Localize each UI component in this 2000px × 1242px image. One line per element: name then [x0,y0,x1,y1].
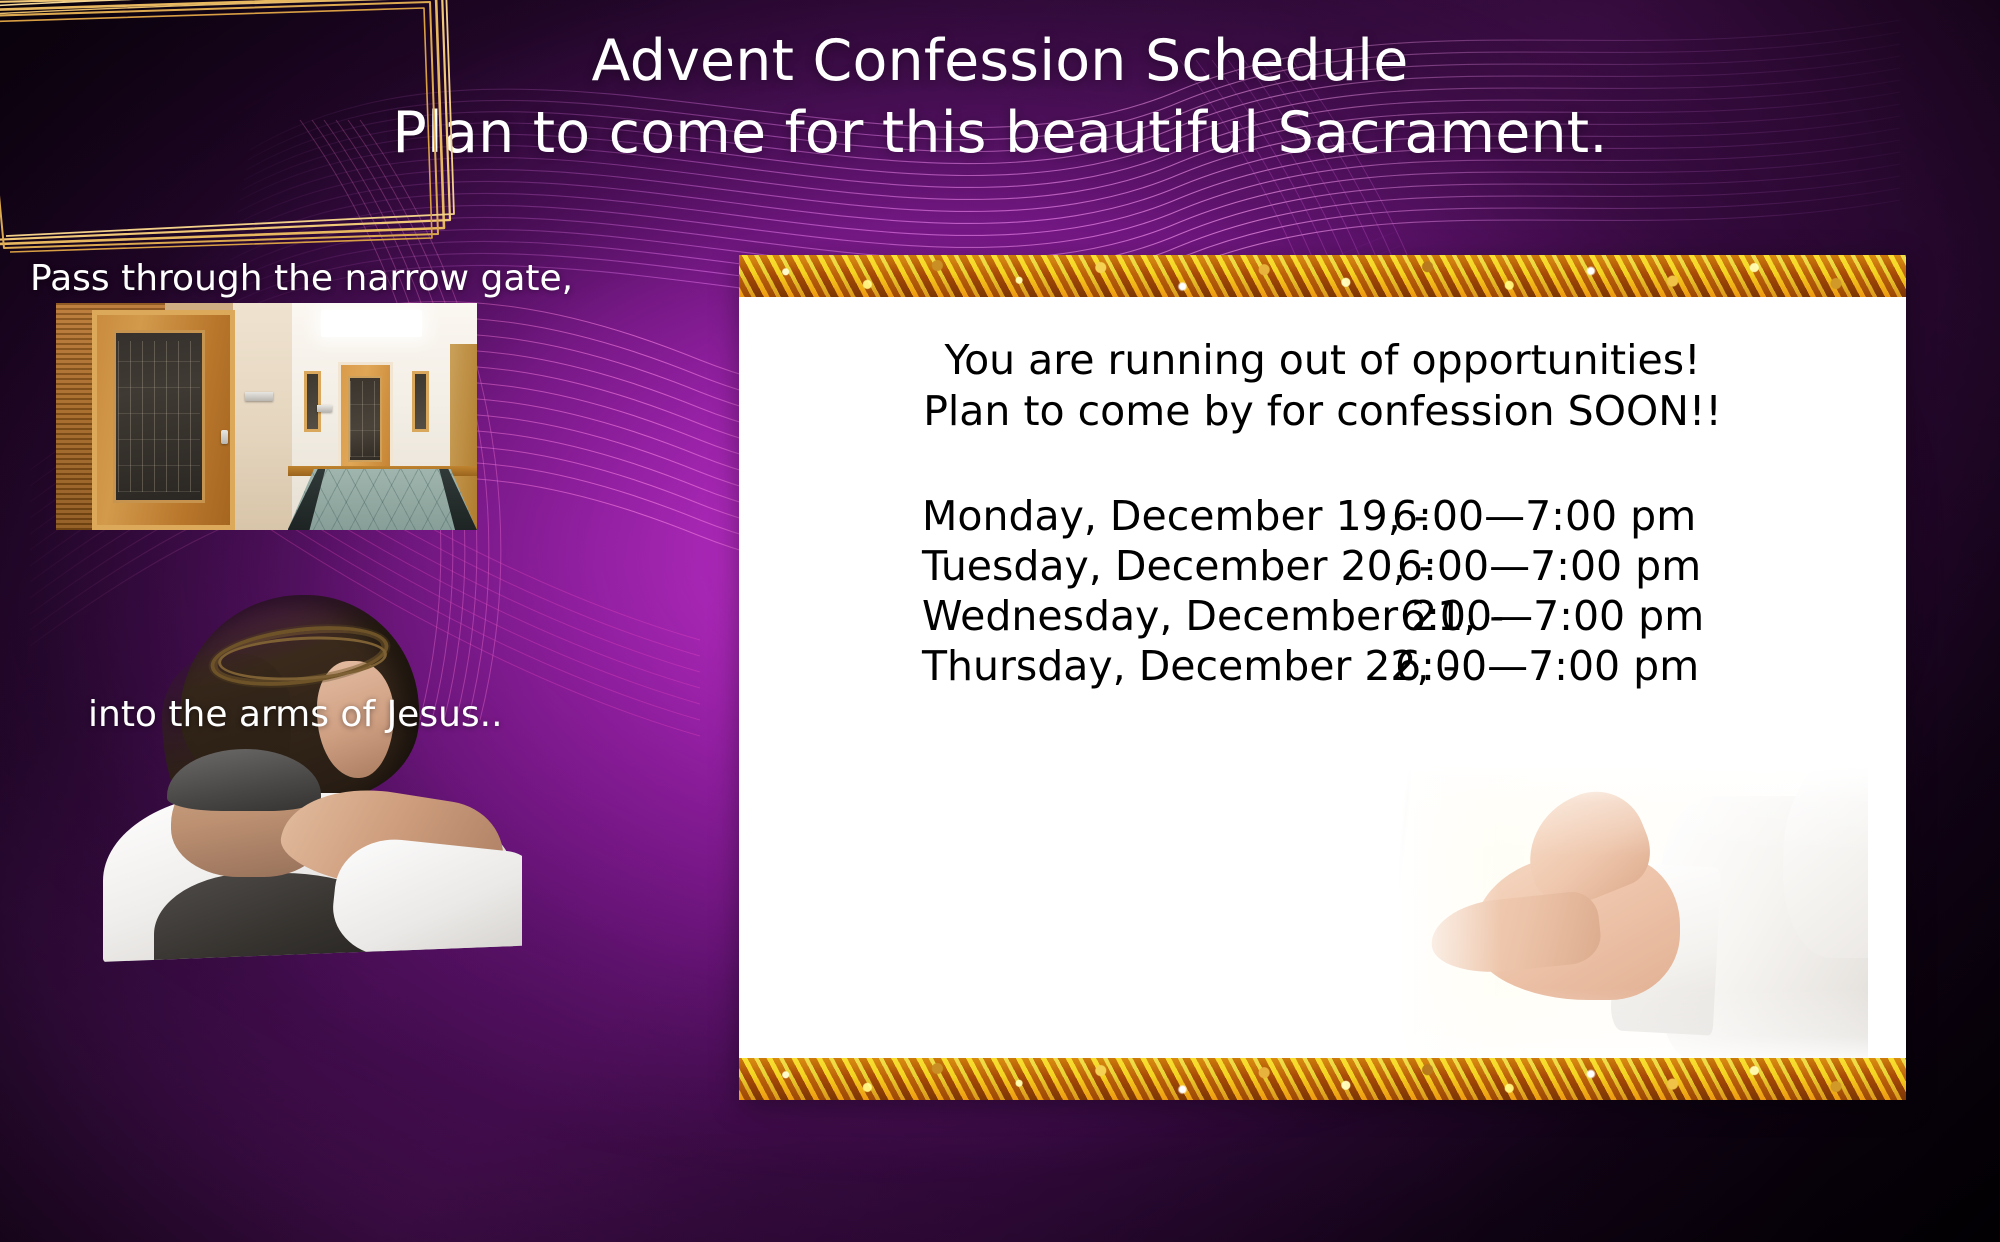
schedule-time: 6:00—7:00 pm [1397,541,1701,591]
headline-line-1: You are running out of opportunities! [739,335,1906,386]
gold-glitter-bottom-border [739,1058,1906,1100]
corridor-picture-right [412,371,430,432]
slide-canvas: Advent Confession Schedule Plan to come … [0,0,2000,1242]
door-photo-container [56,303,477,530]
open-hand-photo [1398,766,1868,1058]
corridor-far-plate [317,405,332,412]
title-block: Advent Confession Schedule Plan to come … [0,28,2000,166]
schedule-card-body: You are running out of opportunities! Pl… [739,297,1906,1058]
schedule-row: Thursday, December 22, - 6:00—7:00 pm [922,641,1906,691]
corridor-door-plate [245,392,272,401]
corridor-near-door-glass [113,330,206,503]
corridor-picture-left [304,371,322,432]
corridor-skylight [321,310,422,337]
corridor-handle-near [221,430,228,444]
schedule-row: Wednesday, December 21, - 6:00—7:00 pm [922,591,1906,641]
schedule-day: Monday, December 19, - [922,491,1392,541]
hand-photo-fade [1398,766,1868,1058]
jesus-embrace-photo [94,580,522,962]
caption-arms-of-jesus: into the arms of Jesus.. [88,694,503,735]
schedule-time: 6:00—7:00 pm [1392,491,1696,541]
schedule-day: Wednesday, December 21, - [922,591,1400,641]
page-title: Advent Confession Schedule [0,28,2000,94]
caption-narrow-gate: Pass through the narrow gate, [30,258,573,299]
confession-schedule-list: Monday, December 19, - 6:00—7:00 pm Tues… [739,491,1906,691]
church-corridor-photo [56,303,477,530]
schedule-card: You are running out of opportunities! Pl… [739,255,1906,1100]
corridor-ivory-wall [233,303,292,530]
card-headline: You are running out of opportunities! Pl… [739,297,1906,437]
schedule-time: 6:00—7:00 pm [1395,641,1699,691]
schedule-row: Monday, December 19, - 6:00—7:00 pm [922,491,1906,541]
schedule-day: Thursday, December 22, - [922,641,1395,691]
schedule-time: 6:00—7:00 pm [1400,591,1704,641]
gold-glitter-top-border [739,255,1906,297]
page-subtitle: Plan to come for this beautiful Sacramen… [0,100,2000,166]
jesus-sleeve [328,834,522,962]
schedule-day: Tuesday, December 20, - [922,541,1397,591]
corridor-far-door-glass [348,376,383,462]
schedule-row: Tuesday, December 20, - 6:00—7:00 pm [922,541,1906,591]
headline-line-2: Plan to come by for confession SOON!! [739,386,1906,437]
